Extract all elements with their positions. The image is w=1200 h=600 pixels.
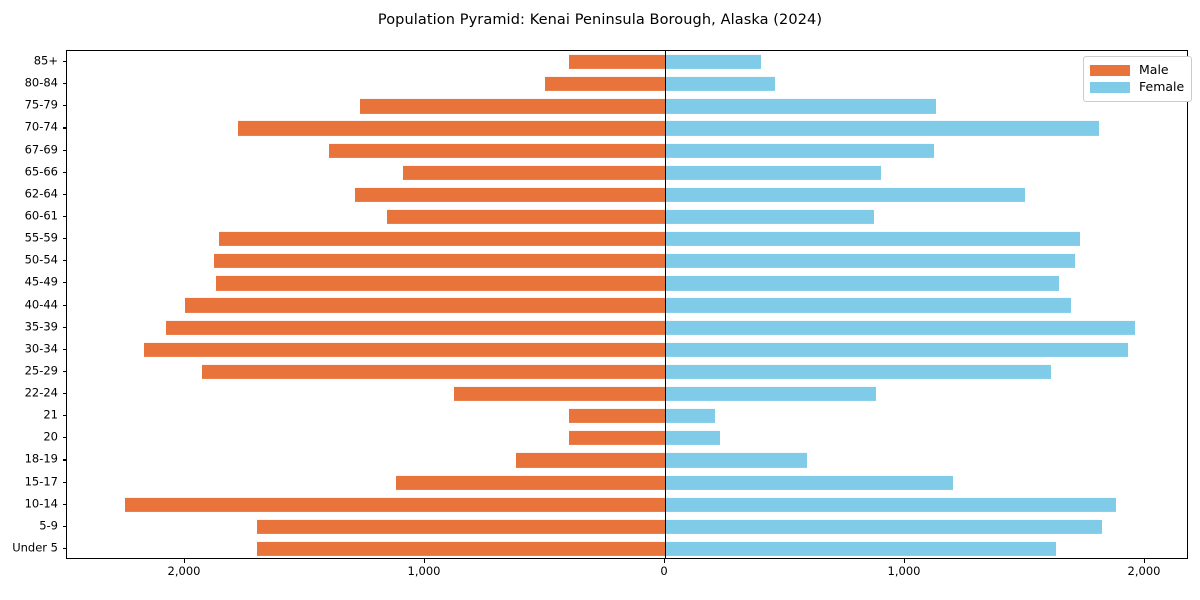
bar-female	[665, 520, 1102, 534]
bar-female	[665, 321, 1135, 335]
bar-male	[166, 321, 665, 335]
y-axis-label-15-17: 15-17	[25, 476, 58, 488]
bar-female	[665, 475, 953, 489]
bar-male	[185, 298, 665, 312]
bar-female	[665, 453, 807, 467]
bar-male	[569, 431, 665, 445]
legend-entry-female[interactable]: Female	[1090, 79, 1184, 96]
bar-row	[67, 405, 1187, 427]
y-axis-label-5-9: 5-9	[39, 520, 58, 532]
chart-legend: MaleFemale	[1083, 56, 1192, 102]
legend-entry-male[interactable]: Male	[1090, 62, 1184, 79]
bar-female	[665, 99, 936, 113]
bar-male	[257, 542, 665, 556]
y-axis-label-50-54: 50-54	[25, 254, 58, 266]
y-axis-label-20: 20	[43, 432, 58, 444]
y-axis-label-21: 21	[43, 409, 58, 421]
bar-female	[665, 409, 715, 423]
bar-male	[329, 143, 665, 157]
bar-row	[67, 184, 1187, 206]
zero-axis-line	[665, 51, 666, 558]
bar-row	[67, 339, 1187, 361]
y-axis-label-10-14: 10-14	[25, 498, 58, 510]
bar-male	[569, 409, 665, 423]
y-axis-label-62-64: 62-64	[25, 188, 58, 200]
bar-female	[665, 210, 874, 224]
bar-row	[67, 471, 1187, 493]
bar-female	[665, 365, 1051, 379]
y-axis-label-80-84: 80-84	[25, 77, 58, 89]
plot-area	[66, 50, 1188, 559]
y-axis-tick	[63, 305, 67, 306]
x-axis-label: 1,000	[408, 566, 441, 578]
y-axis-label-85: 85+	[34, 55, 58, 67]
bar-row	[67, 427, 1187, 449]
y-axis-label-40-44: 40-44	[25, 299, 58, 311]
bar-male	[125, 498, 665, 512]
population-pyramid-figure: Population Pyramid: Kenai Peninsula Boro…	[0, 0, 1200, 600]
bar-row	[67, 250, 1187, 272]
bar-male	[355, 188, 665, 202]
bar-male	[569, 55, 665, 69]
bar-female	[665, 232, 1080, 246]
bar-row	[67, 516, 1187, 538]
y-axis-tick	[63, 172, 67, 173]
bar-male	[360, 99, 665, 113]
y-axis-tick	[63, 504, 67, 505]
y-axis-label-75-79: 75-79	[25, 100, 58, 112]
y-axis-tick	[63, 327, 67, 328]
y-axis-tick	[63, 282, 67, 283]
bar-male	[545, 77, 665, 91]
y-axis-tick	[63, 105, 67, 106]
bar-row	[67, 140, 1187, 162]
bar-male	[144, 343, 665, 357]
bar-row	[67, 383, 1187, 405]
bar-row	[67, 361, 1187, 383]
y-axis-label-60-61: 60-61	[25, 210, 58, 222]
bar-male	[403, 166, 665, 180]
x-axis-tick	[664, 559, 665, 563]
bar-row	[67, 117, 1187, 139]
bar-row	[67, 294, 1187, 316]
y-axis-tick	[63, 393, 67, 394]
y-axis-tick	[63, 194, 67, 195]
bar-row	[67, 51, 1187, 73]
y-axis-tick	[63, 482, 67, 483]
y-axis-label-65-66: 65-66	[25, 166, 58, 178]
y-axis-tick	[63, 459, 67, 460]
bar-male	[387, 210, 665, 224]
y-axis-tick	[63, 127, 67, 128]
bar-male	[454, 387, 665, 401]
legend-label-female: Female	[1139, 81, 1184, 94]
bar-male	[202, 365, 665, 379]
y-axis-tick	[63, 526, 67, 527]
x-axis-label: 2,000	[1128, 566, 1161, 578]
y-axis-tick	[63, 61, 67, 62]
bar-female	[665, 298, 1071, 312]
y-axis-tick	[63, 349, 67, 350]
bar-row	[67, 162, 1187, 184]
y-axis-tick	[63, 260, 67, 261]
y-axis-label-22-24: 22-24	[25, 387, 58, 399]
bar-male	[238, 121, 665, 135]
y-axis-tick	[63, 83, 67, 84]
bar-female	[665, 143, 934, 157]
y-axis-tick	[63, 238, 67, 239]
bar-female	[665, 276, 1059, 290]
x-axis-tick	[1144, 559, 1145, 563]
y-axis-label-18-19: 18-19	[25, 454, 58, 466]
bar-row	[67, 228, 1187, 250]
y-axis-label-45-49: 45-49	[25, 277, 58, 289]
y-axis-label-25-29: 25-29	[25, 365, 58, 377]
y-axis-label-under-5: Under 5	[12, 542, 58, 554]
bar-female	[665, 121, 1099, 135]
legend-swatch-male	[1090, 65, 1130, 76]
y-axis-tick	[63, 548, 67, 549]
bar-row	[67, 95, 1187, 117]
bar-female	[665, 542, 1056, 556]
bar-female	[665, 166, 881, 180]
bar-male	[219, 232, 665, 246]
bar-female	[665, 343, 1128, 357]
bar-row	[67, 206, 1187, 228]
bar-female	[665, 254, 1075, 268]
bar-female	[665, 387, 876, 401]
y-axis-tick	[63, 437, 67, 438]
y-axis-label-30-34: 30-34	[25, 343, 58, 355]
bar-male	[214, 254, 665, 268]
y-axis-tick	[63, 150, 67, 151]
bar-female	[665, 55, 761, 69]
x-axis-label: 2,000	[168, 566, 201, 578]
chart-title: Population Pyramid: Kenai Peninsula Boro…	[0, 12, 1200, 28]
bar-male	[257, 520, 665, 534]
bar-male	[216, 276, 665, 290]
bar-row	[67, 449, 1187, 471]
x-axis-tick	[904, 559, 905, 563]
bar-female	[665, 188, 1025, 202]
y-axis-tick	[63, 216, 67, 217]
y-axis-label-35-39: 35-39	[25, 321, 58, 333]
y-axis-label-70-74: 70-74	[25, 122, 58, 134]
x-axis-tick	[184, 559, 185, 563]
x-axis-tick	[424, 559, 425, 563]
x-axis-label: 1,000	[888, 566, 921, 578]
bar-male	[516, 453, 665, 467]
bar-female	[665, 498, 1116, 512]
bar-row	[67, 73, 1187, 95]
x-axis-label: 0	[660, 566, 667, 578]
y-axis-label-67-69: 67-69	[25, 144, 58, 156]
bar-male	[396, 475, 665, 489]
legend-label-male: Male	[1139, 64, 1169, 77]
bar-row	[67, 538, 1187, 559]
bar-female	[665, 431, 720, 445]
bar-row	[67, 272, 1187, 294]
bar-female	[665, 77, 775, 91]
y-axis-tick	[63, 415, 67, 416]
bar-row	[67, 317, 1187, 339]
legend-swatch-female	[1090, 82, 1130, 93]
y-axis-tick	[63, 371, 67, 372]
bar-row	[67, 494, 1187, 516]
y-axis-label-55-59: 55-59	[25, 232, 58, 244]
